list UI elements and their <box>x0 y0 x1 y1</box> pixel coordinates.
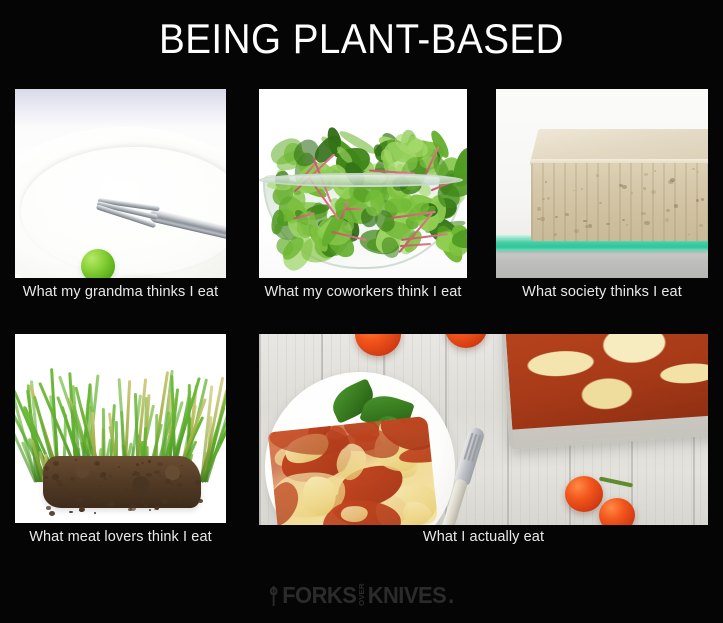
tofu-speck <box>641 212 645 215</box>
tofu-speck <box>631 192 633 194</box>
soil-crumb <box>154 470 160 475</box>
tofu-speck <box>581 188 583 190</box>
tofu-speck <box>692 168 695 170</box>
tofu-speck <box>701 198 704 200</box>
tofu-speck <box>565 213 568 216</box>
soil-crumb <box>176 496 181 500</box>
tofu-speck <box>674 204 679 208</box>
tofu-speck <box>666 209 670 212</box>
counter-surface <box>496 248 708 278</box>
tofu-speck <box>688 234 690 235</box>
soil-crumb <box>75 459 77 460</box>
panel-image-meat-lovers <box>15 334 226 523</box>
lasagna-slice <box>268 416 438 525</box>
tofu-speck <box>622 219 625 221</box>
tofu-speck <box>573 190 575 191</box>
tofu-speck <box>654 170 656 172</box>
tofu-speck <box>545 181 547 183</box>
soil-crumb <box>179 475 181 477</box>
tofu-speck <box>606 223 609 226</box>
panel-image-coworkers <box>259 89 467 278</box>
soil-crumb <box>128 508 132 511</box>
soil-crumb <box>181 465 183 466</box>
page-title: BEING PLANT-BASED <box>29 16 694 62</box>
soil-crumb <box>98 485 100 487</box>
panel-image-society <box>496 89 708 278</box>
tofu-speck <box>542 198 545 200</box>
soil-clump <box>43 456 201 508</box>
soil-crumb <box>43 466 49 471</box>
tofu-speck <box>547 197 551 200</box>
soil-crumb <box>136 463 140 466</box>
brand-name-first: FORKS <box>282 584 356 607</box>
soil-crumb <box>135 472 140 476</box>
soil-crumb <box>167 488 170 490</box>
cherry-tomato <box>565 476 603 512</box>
tofu-speck <box>696 199 699 202</box>
soil-crumb <box>108 501 114 506</box>
panel-caption-meat-lovers: What meat lovers think I eat <box>15 528 226 546</box>
brand-name-middle: OVER <box>358 585 366 606</box>
panel-caption-grandma: What my grandma thinks I eat <box>15 283 226 301</box>
tofu-speck <box>644 173 649 177</box>
tofu-speck <box>599 202 602 204</box>
fork-knife-icon <box>270 586 279 606</box>
meme-image: BEING PLANT-BASED What my grandma thinks… <box>0 0 723 623</box>
tofu-speck <box>670 178 675 182</box>
baked-lasagna <box>505 334 708 430</box>
brand-trailing-dot: . <box>448 584 454 607</box>
soil-crumb <box>52 474 58 479</box>
tofu-speck <box>537 218 539 220</box>
soil-crumb <box>70 477 75 481</box>
tofu-speck <box>619 184 623 187</box>
soil-crumb <box>44 491 46 493</box>
tofu-speck <box>651 190 656 194</box>
soil-crumb <box>142 500 145 502</box>
panel-caption-society: What society thinks I eat <box>496 283 708 301</box>
tofu-speck <box>583 220 586 223</box>
green-pea <box>81 249 115 278</box>
tofu-speck <box>665 218 669 221</box>
soil-crumb <box>69 511 72 514</box>
brand-watermark: FORKS OVER KNIVES . <box>0 584 723 610</box>
soil-crumb <box>63 487 67 490</box>
soil-crumb <box>79 508 84 512</box>
soil-crumb <box>100 473 105 477</box>
tofu-speck <box>697 171 699 173</box>
salad-leaf <box>438 184 461 208</box>
soil-crumb <box>57 492 59 493</box>
lasagna-baking-dish <box>501 334 708 450</box>
tofu-speck <box>555 216 558 218</box>
soil-crumb <box>53 461 59 466</box>
panel-image-grandma <box>15 89 226 278</box>
panel-caption-actual: What I actually eat <box>259 528 708 546</box>
tofu-speck <box>537 207 542 211</box>
tofu-speck <box>643 187 646 189</box>
soil-crumb <box>157 462 162 466</box>
cherry-tomato <box>599 498 635 525</box>
soil-crumb <box>78 498 82 501</box>
soil-crumb <box>118 466 120 468</box>
tofu-speck <box>626 224 628 226</box>
tofu-speck <box>554 233 557 236</box>
soil-crumb <box>56 480 60 484</box>
tofu-speck <box>540 217 544 220</box>
soil-crumb <box>46 506 50 510</box>
soil-crumb <box>162 499 168 504</box>
tofu-speck <box>596 174 599 176</box>
bowl-rim <box>259 173 463 187</box>
tofu-speck <box>644 221 649 225</box>
tofu-speck <box>574 229 579 233</box>
soil-crumb <box>184 490 186 492</box>
tofu-front-face <box>531 163 708 241</box>
panel-caption-coworkers: What my coworkers think I eat <box>259 283 467 301</box>
soil-crumb <box>170 483 173 485</box>
soil-crumb <box>155 506 159 510</box>
panel-image-actual <box>259 334 708 525</box>
salad-greens <box>259 129 467 269</box>
tofu-speck <box>699 224 703 227</box>
brand-name-last: KNIVES <box>367 584 446 607</box>
soil-crumb <box>104 478 107 480</box>
tofu-speck <box>588 224 593 228</box>
